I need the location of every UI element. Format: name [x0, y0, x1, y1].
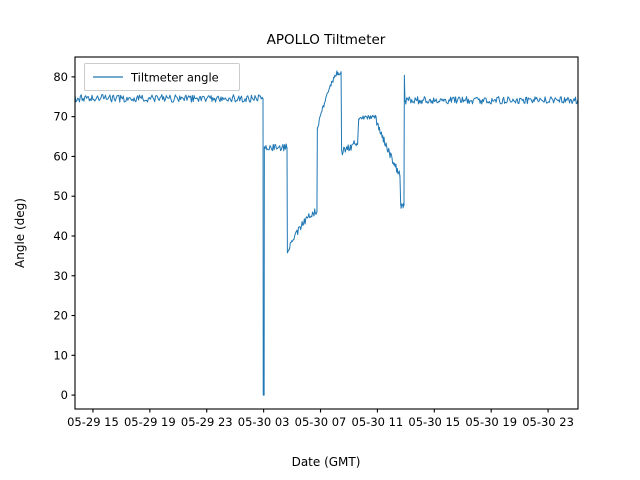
y-tick-label: 30 [53, 269, 68, 283]
y-tick-label: 50 [53, 189, 68, 203]
y-axis-label: Angle (deg) [13, 198, 27, 268]
axes-background [75, 57, 578, 409]
y-tick-label: 40 [53, 229, 68, 243]
x-tick-label: 05-29 19 [124, 415, 176, 429]
x-tick-label: 05-29 23 [181, 415, 233, 429]
y-tick-label: 80 [53, 70, 68, 84]
legend-entry-label: Tiltmeter angle [130, 71, 219, 85]
legend[interactable]: Tiltmeter angle [85, 64, 240, 91]
y-tick-label: 0 [61, 388, 68, 402]
matplotlib-figure: APOLLO Tiltmeter 01020304050607080 05-29… [0, 0, 640, 480]
x-axis-label: Date (GMT) [292, 455, 361, 469]
plot-area: 01020304050607080 05-29 1505-29 1905-29 … [53, 57, 578, 429]
x-tick-label: 05-30 07 [295, 415, 347, 429]
y-tick-label: 20 [53, 309, 68, 323]
y-tick-label: 70 [53, 110, 68, 124]
chart-title: APOLLO Tiltmeter [267, 32, 386, 48]
x-tick-label: 05-30 11 [352, 415, 404, 429]
x-tick-label: 05-29 15 [67, 415, 119, 429]
y-tick-label: 10 [53, 348, 68, 362]
tiltmeter-chart: APOLLO Tiltmeter 01020304050607080 05-29… [0, 0, 640, 480]
y-tick-label: 60 [53, 149, 68, 163]
x-tick-label: 05-30 23 [522, 415, 574, 429]
x-tick-label: 05-30 15 [408, 415, 460, 429]
x-tick-label: 05-30 19 [465, 415, 517, 429]
x-tick-label: 05-30 03 [238, 415, 290, 429]
